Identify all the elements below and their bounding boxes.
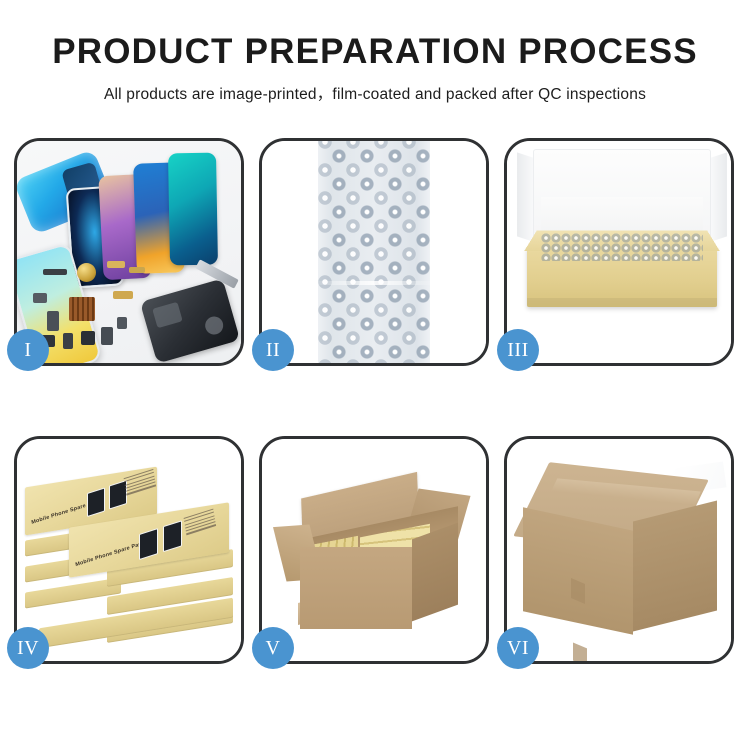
sealed-carton <box>521 471 725 641</box>
bubble-wrap-inside <box>541 233 703 261</box>
phone-graphic <box>163 520 182 552</box>
step-panel-1: I <box>14 138 244 366</box>
component-icon <box>33 293 47 303</box>
component-icon <box>113 291 133 299</box>
step-panel-3: III <box>504 138 734 366</box>
kraft-box-base <box>527 247 717 307</box>
spec-lines <box>124 469 157 497</box>
component-icon <box>43 269 67 275</box>
chip-grid-icon <box>69 297 95 321</box>
page-title: PRODUCT PREPARATION PROCESS <box>0 34 750 69</box>
step-image-product-parts <box>17 141 241 363</box>
phone-chassis-icon <box>140 278 240 363</box>
step-image-boxed-stack: Mobile Phone Spare Parts Mobile Phone Sp… <box>17 439 241 661</box>
step-panel-6: VI <box>504 436 734 664</box>
bubble-wrap-sleeve <box>318 141 430 363</box>
phone-graphic <box>87 487 105 517</box>
component-icon <box>81 331 95 345</box>
component-icon <box>63 333 73 349</box>
step-badge-4: IV <box>7 627 49 669</box>
box-lip <box>527 298 717 307</box>
bubble-pattern-offset <box>318 141 430 363</box>
step-image-inner-box <box>507 141 731 363</box>
step-image-carton-packing <box>262 439 486 661</box>
product-preparation-page: PRODUCT PREPARATION PROCESS All products… <box>0 0 750 750</box>
carton-right-face <box>412 523 458 622</box>
phone-graphic <box>139 528 158 560</box>
page-subtitle: All products are image-printed，film-coat… <box>0 82 750 104</box>
component-icon <box>47 311 59 331</box>
carton-left-face <box>523 507 633 634</box>
step-badge-1: I <box>7 329 49 371</box>
page-header: PRODUCT PREPARATION PROCESS All products… <box>0 0 750 104</box>
carton-tab <box>571 578 585 604</box>
process-steps-grid: I II III <box>14 138 736 664</box>
step-panel-2: II <box>259 138 489 366</box>
component-icon <box>117 317 127 329</box>
component-icon <box>107 261 125 268</box>
step-image-sealed-carton <box>507 439 731 661</box>
step-badge-6: VI <box>497 627 539 669</box>
component-icon <box>129 267 145 273</box>
step-badge-2: II <box>252 329 294 371</box>
phone-icon <box>168 153 218 266</box>
step-panel-5: V <box>259 436 489 664</box>
kraft-box-stack: Mobile Phone Spare Parts Mobile Phone Sp… <box>25 463 239 651</box>
box-label: Mobile Phone Spare Parts <box>75 540 146 568</box>
wrap-seam <box>318 281 430 285</box>
step-badge-5: V <box>252 627 294 669</box>
coil-component-icon <box>77 263 96 282</box>
carton-right-face <box>633 501 717 632</box>
component-icon <box>101 327 113 345</box>
spec-lines <box>184 509 217 537</box>
carton-front-face <box>300 547 412 629</box>
carton-tab <box>573 642 587 661</box>
open-carton <box>286 479 468 635</box>
step-badge-3: III <box>497 329 539 371</box>
step-panel-4: Mobile Phone Spare Parts Mobile Phone Sp… <box>14 436 244 664</box>
step-image-bubble-wrap <box>262 141 486 363</box>
